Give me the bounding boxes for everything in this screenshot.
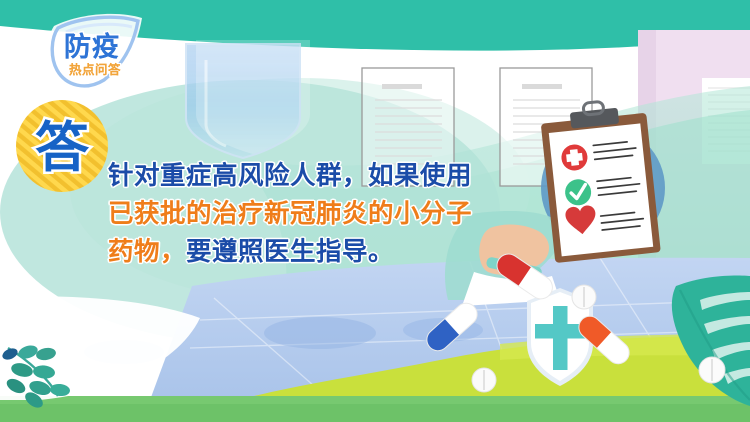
answer-line-3-part-2: 要遵照医生指导。 [186,237,394,267]
answer-line-3: 药物，要遵照医生指导。 [108,236,528,270]
answer-badge-label: 答 [35,116,90,179]
brand-logo: 防疫 防疫 热点问答 热点问答 [38,8,158,100]
tablet-white-3 [472,368,496,392]
answer-line-3-part-1: 药物， [108,237,186,267]
answer-line-1: 针对重症高风险人群，如果使用 [108,160,528,194]
logo-sub-text-fill: 热点问答 [69,62,121,77]
answer-line-2: 已获批的治疗新冠肺炎的小分子 [108,198,528,232]
tablet-white-2 [699,357,725,383]
poster-canvas: 防疫 防疫 热点问答 热点问答 答 针对重症高风险人群，如果使用 已获批的治疗新… [0,0,750,422]
answer-badge: 答 [14,98,110,194]
tablet-white-1 [572,285,596,309]
logo-main-text-fill: 防疫 [64,31,120,63]
answer-text-block: 针对重症高风险人群，如果使用 已获批的治疗新冠肺炎的小分子 药物，要遵照医生指导… [108,160,528,274]
